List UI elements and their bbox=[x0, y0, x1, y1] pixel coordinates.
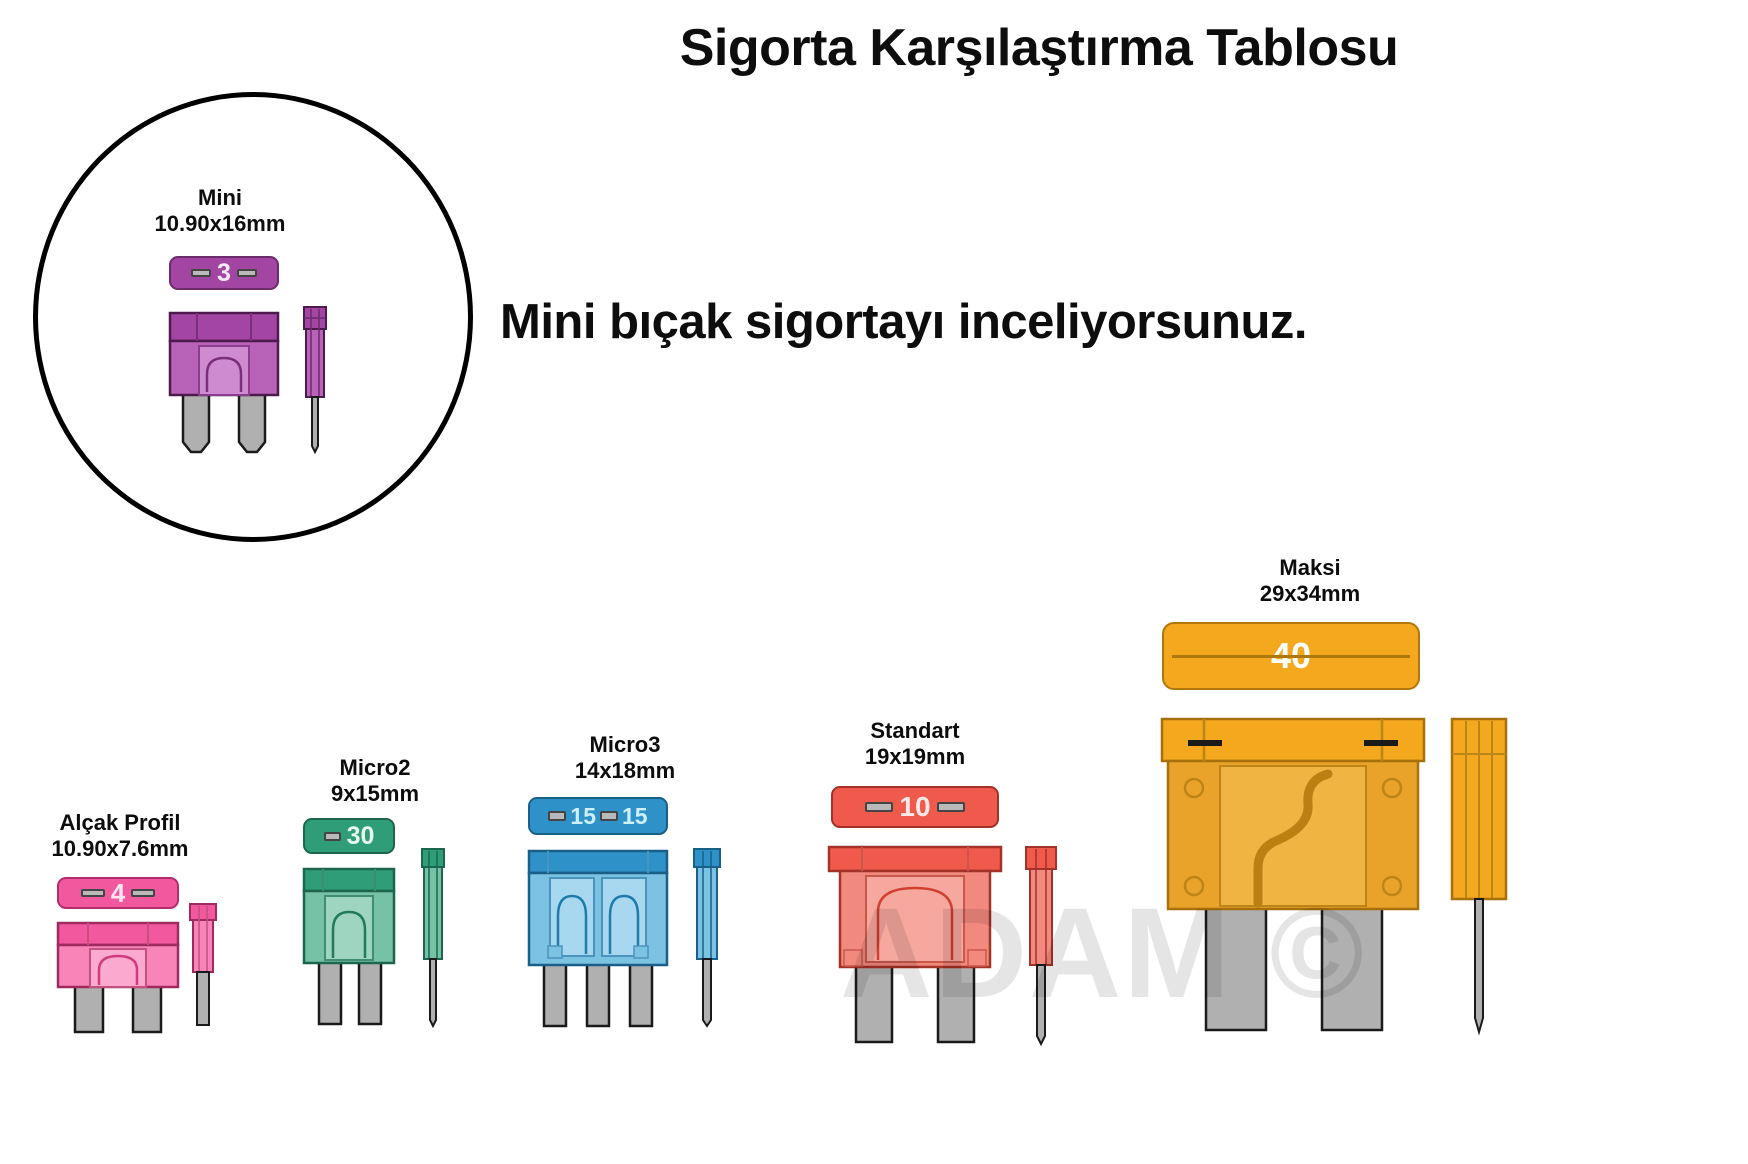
mini-label-dimensions: 10.90x16mm bbox=[120, 211, 320, 237]
micro2-label-name: Micro2 bbox=[260, 755, 490, 781]
mini-amperage-top: 3 bbox=[217, 261, 231, 286]
mini-label: Mini 10.90x16mm bbox=[120, 185, 320, 237]
micro2-slot-left bbox=[324, 832, 341, 841]
standart-label-dimensions: 19x19mm bbox=[800, 744, 1030, 770]
maksi-label: Maksi 29x34mm bbox=[1140, 555, 1480, 607]
mini-fuse-front-view bbox=[169, 312, 279, 452]
standart-amperage-top: 10 bbox=[899, 793, 930, 821]
subtitle-text: Mini bıçak sigortayı inceliyorsunuz. bbox=[500, 294, 1510, 350]
micro3-slot-middle bbox=[600, 811, 618, 821]
standart-slot-right bbox=[937, 802, 965, 812]
maksi-label-name: Maksi bbox=[1140, 555, 1480, 581]
micro3-label-dimensions: 14x18mm bbox=[510, 758, 740, 784]
micro2-label-dimensions: 9x15mm bbox=[260, 781, 490, 807]
micro3-front-view bbox=[528, 850, 668, 1035]
micro3-top-view: 15 15 bbox=[528, 797, 668, 835]
mini-slot-right bbox=[237, 269, 257, 277]
standart-slot-left bbox=[865, 802, 893, 812]
mini-slot-left bbox=[191, 269, 211, 277]
alcak-profil-label-name: Alçak Profil bbox=[0, 810, 240, 836]
micro3-side-view bbox=[690, 848, 724, 1028]
maksi-side-view bbox=[1448, 718, 1510, 1038]
standart-label-name: Standart bbox=[800, 718, 1030, 744]
micro2-label: Micro2 9x15mm bbox=[260, 755, 490, 807]
alcak-profil-front-view bbox=[57, 922, 179, 1042]
standart-side-view bbox=[1022, 846, 1060, 1046]
standart-front-view bbox=[826, 846, 1004, 1046]
standart-label: Standart 19x19mm bbox=[800, 718, 1030, 770]
alcak-profil-slot-left bbox=[81, 889, 105, 897]
maksi-label-dimensions: 29x34mm bbox=[1140, 581, 1480, 607]
standart-top-view: 10 bbox=[831, 786, 999, 828]
alcak-profil-top-view: 4 bbox=[57, 877, 179, 909]
micro2-amperage-top: 30 bbox=[347, 824, 375, 849]
mini-fuse-top-view: 3 bbox=[169, 256, 279, 290]
alcak-profil-label-dimensions: 10.90x7.6mm bbox=[0, 836, 240, 862]
maksi-top-seam bbox=[1172, 655, 1410, 658]
micro2-side-view bbox=[418, 848, 448, 1028]
alcak-profil-label: Alçak Profil 10.90x7.6mm bbox=[0, 810, 240, 862]
micro3-amperage-left: 15 bbox=[570, 805, 596, 828]
alcak-profil-slot-right bbox=[131, 889, 155, 897]
micro3-slot-left bbox=[548, 811, 566, 821]
mini-fuse-side-view bbox=[300, 306, 330, 454]
micro3-amperage-right: 15 bbox=[622, 805, 648, 828]
alcak-profil-side-view bbox=[186, 903, 220, 1038]
micro3-label: Micro3 14x18mm bbox=[510, 732, 740, 784]
micro3-label-name: Micro3 bbox=[510, 732, 740, 758]
fuse-comparison-chart: Sigorta Karşılaştırma Tablosu Mini bıçak… bbox=[0, 0, 1748, 1164]
maksi-front-view bbox=[1160, 718, 1426, 1038]
micro2-front-view bbox=[303, 868, 395, 1033]
mini-label-name: Mini bbox=[120, 185, 320, 211]
micro2-top-view: 30 bbox=[303, 818, 395, 854]
alcak-profil-amperage-top: 4 bbox=[111, 880, 125, 906]
page-title: Sigorta Karşılaştırma Tablosu bbox=[330, 18, 1748, 78]
